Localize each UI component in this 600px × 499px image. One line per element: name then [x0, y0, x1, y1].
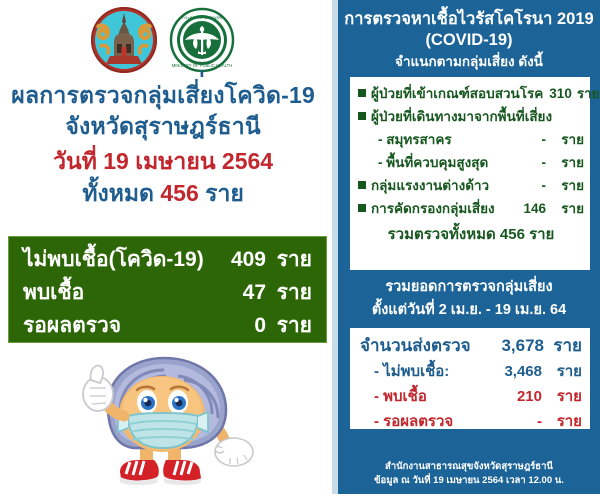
row-value: 210 — [486, 384, 542, 409]
square-bullet-icon — [358, 181, 366, 189]
suratthani-province-seal-icon — [90, 6, 158, 79]
row-label: - พบเชื้อ — [374, 384, 427, 409]
row-label: - รอผลตรวจ — [374, 409, 453, 434]
cumulative-line-1: รวมยอดการตรวจกลุ่มเสี่ยง — [338, 276, 600, 299]
right-heading: การตรวจหาเชื้อไวรัสโคโรนา 2019 (COVID-19… — [338, 0, 600, 72]
row-value: 47 — [220, 276, 266, 309]
row-unit: ราย — [542, 384, 582, 409]
list-item: กลุ่มแรงงานต่างด้าว - ราย — [358, 174, 584, 197]
square-bullet-icon — [358, 204, 366, 212]
row-label: พบเชื้อ — [23, 276, 84, 309]
row-value: 3,678 — [501, 333, 544, 359]
cumulative-stats-box: จำนวนส่งตรวจ 3,678 ราย - ไม่พบเชื้อ: 3,4… — [350, 328, 590, 429]
row-value: 3,468 — [486, 359, 542, 384]
row-unit: ราย — [266, 309, 312, 342]
right-heading-line-3: จำแนกตามกลุ่มเสี่ยง ดังนี้ — [344, 51, 594, 72]
cumulative-total-row: จำนวนส่งตรวจ 3,678 ราย — [360, 333, 582, 359]
row-value: 0 — [220, 309, 266, 342]
cumulative-summary-heading: รวมยอดการตรวจกลุ่มเสี่ยง ตั้งแต่วันที่ 2… — [338, 276, 600, 322]
total-unit: ราย — [205, 180, 244, 206]
item-unit: ราย — [546, 128, 584, 151]
risk-group-breakdown-box: ผู้ป่วยที่เข้าเกณฑ์สอบสวนโรค 310 ราย ผู้… — [350, 77, 590, 270]
row-label: - ไม่พบเชื้อ: — [374, 359, 449, 384]
mascot-clam-with-mask — [62, 352, 267, 494]
item-unit: ราย — [546, 174, 584, 197]
item-label: - สมุทรสาคร — [378, 128, 452, 151]
infographic-root: กระทรวงสาธารณสุข MINISTRY OF PUBLIC HEAL… — [0, 0, 600, 494]
logo-row: กระทรวงสาธารณสุข MINISTRY OF PUBLIC HEAL… — [0, 0, 326, 78]
footer-line-2: ข้อมูล ณ วันที่ 19 เมษายน 2564 เวลา 12.0… — [348, 474, 590, 488]
item-unit: ราย — [546, 151, 584, 174]
row-unit: ราย — [266, 276, 312, 309]
table-row: - ไม่พบเชื้อ: 3,468 ราย — [360, 359, 582, 384]
left-panel: กระทรวงสาธารณสุข MINISTRY OF PUBLIC HEAL… — [0, 0, 326, 494]
cumulative-line-2: ตั้งแต่วันที่ 2 เม.ย. - 19 เม.ย. 64 — [338, 299, 600, 322]
right-heading-line-1: การตรวจหาเชื้อไวรัสโคโรนา 2019 — [344, 8, 594, 30]
footer: สำนักงานสาธารณสุขจังหวัดสุราษฎร์ธานี ข้อ… — [338, 460, 600, 488]
item-unit: ราย — [577, 82, 600, 105]
report-date: วันที่ 19 เมษายน 2564 — [0, 145, 326, 178]
row-value: - — [486, 409, 542, 434]
row-value: 409 — [220, 243, 266, 276]
list-item: ผู้ป่วยที่เข้าเกณฑ์สอบสวนโรค 310 ราย — [358, 82, 584, 105]
total-summary: ทั้งหมด 456 ราย — [0, 178, 326, 209]
results-table: ไม่พบเชื้อ(โควิด-19) 409 ราย พบเชื้อ 47 … — [8, 236, 327, 343]
row-unit: ราย — [544, 333, 582, 359]
list-item: ผู้ป่วยที่เดินทางมาจากพื้นที่เสี่ยง — [358, 105, 584, 128]
list-item: - สมุทรสาคร - ราย — [358, 128, 584, 151]
square-bullet-icon — [358, 89, 366, 97]
item-label: กลุ่มแรงงานต่างด้าว — [371, 174, 489, 197]
row-label: รอผลตรวจ — [23, 309, 121, 342]
box1-total-line: รวมตรวจทั้งหมด 456 ราย — [358, 222, 584, 248]
row-unit: ราย — [266, 243, 312, 276]
heading-line-1: ผลการตรวจกลุ่มเสี่ยงโควิด-19 — [0, 80, 326, 111]
left-heading: ผลการตรวจกลุ่มเสี่ยงโควิด-19 จังหวัดสุรา… — [0, 80, 326, 209]
row-unit: ราย — [542, 409, 582, 434]
item-value: 146 — [523, 197, 546, 220]
item-label: ผู้ป่วยที่เข้าเกณฑ์สอบสวนโรค — [371, 82, 543, 105]
total-value: 456 — [160, 180, 198, 206]
right-panel: การตรวจหาเชื้อไวรัสโคโรนา 2019 (COVID-19… — [338, 0, 600, 494]
table-row: รอผลตรวจ 0 ราย — [23, 309, 312, 342]
square-bullet-icon — [358, 112, 366, 120]
item-value: 310 — [549, 82, 572, 105]
row-unit: ราย — [542, 359, 582, 384]
ministry-of-public-health-logo-icon: กระทรวงสาธารณสุข MINISTRY OF PUBLIC HEAL… — [168, 6, 236, 83]
item-label: - พื้นที่ควบคุมสูงสุด — [378, 151, 488, 174]
item-unit: ราย — [546, 197, 584, 220]
right-heading-line-2: (COVID-19) — [344, 30, 594, 51]
table-row: - รอผลตรวจ - ราย — [360, 409, 582, 434]
table-row: ไม่พบเชื้อ(โควิด-19) 409 ราย — [23, 243, 312, 276]
row-label: จำนวนส่งตรวจ — [360, 333, 471, 359]
table-row: - พบเชื้อ 210 ราย — [360, 384, 582, 409]
table-row: พบเชื้อ 47 ราย — [23, 276, 312, 309]
item-label: ผู้ป่วยที่เดินทางมาจากพื้นที่เสี่ยง — [371, 105, 552, 128]
heading-line-2: จังหวัดสุราษฎร์ธานี — [0, 111, 326, 142]
list-item: การคัดกรองกลุ่มเสี่ยง 146 ราย — [358, 197, 584, 220]
row-label: ไม่พบเชื้อ(โควิด-19) — [23, 243, 204, 276]
item-label: การคัดกรองกลุ่มเสี่ยง — [371, 197, 495, 220]
footer-line-1: สำนักงานสาธารณสุขจังหวัดสุราษฎร์ธานี — [348, 460, 590, 474]
list-item: - พื้นที่ควบคุมสูงสุด - ราย — [358, 151, 584, 174]
svg-text:MINISTRY OF PUBLIC HEALTH: MINISTRY OF PUBLIC HEALTH — [172, 63, 233, 68]
total-label: ทั้งหมด — [82, 180, 154, 206]
